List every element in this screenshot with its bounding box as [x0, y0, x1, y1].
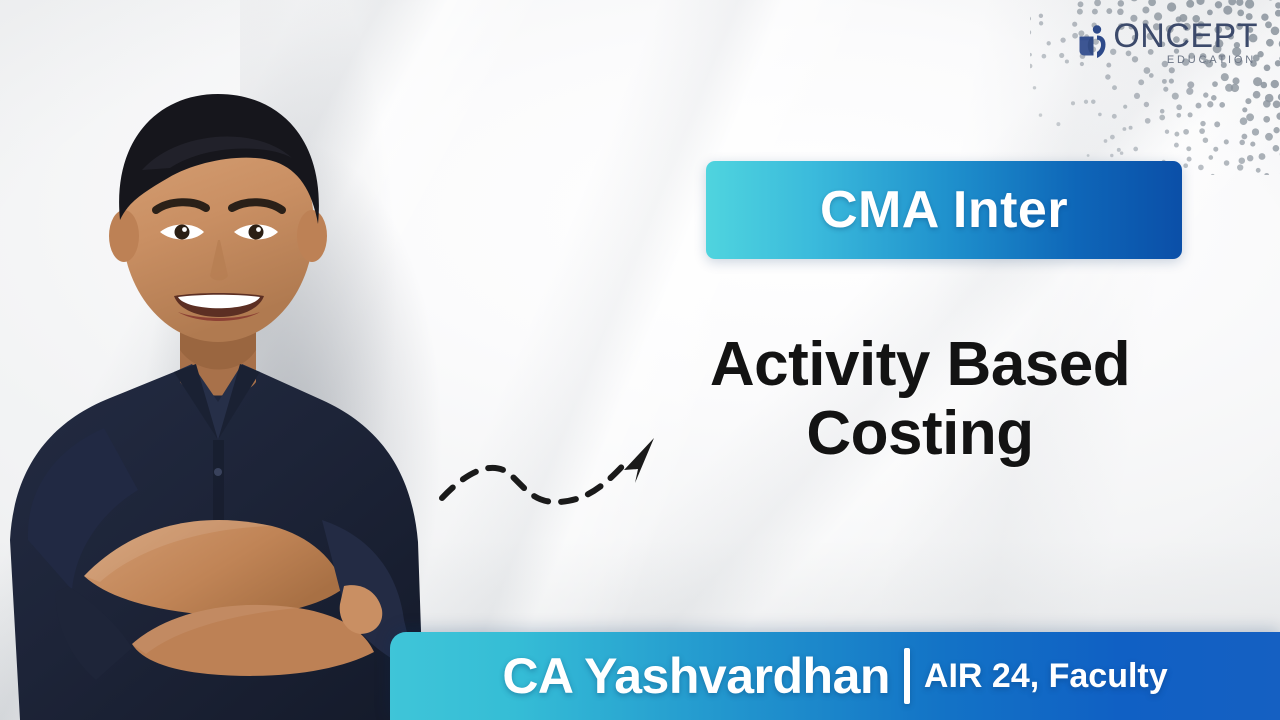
topic-title: Activity Based Costing	[640, 330, 1200, 469]
badge-label: CMA Inter	[820, 180, 1068, 240]
concept-person-icon	[1075, 24, 1109, 62]
instructor-photo	[0, 20, 462, 720]
presenter-credential: AIR 24, Faculty	[924, 657, 1168, 696]
course-level-badge[interactable]: CMA Inter	[706, 161, 1182, 259]
video-thumbnail: ONCEPT EDUCATION	[0, 0, 1280, 720]
presenter-separator	[904, 648, 910, 704]
title-line-1: Activity Based	[640, 330, 1200, 399]
presenter-name: CA Yashvardhan	[502, 647, 890, 705]
presenter-bar: CA Yashvardhan AIR 24, Faculty	[390, 632, 1280, 720]
logo-subtitle: EDUCATION	[1167, 54, 1256, 66]
dashed-curved-arrow-icon	[432, 420, 682, 520]
logo-wordmark: ONCEPT	[1113, 20, 1258, 52]
title-line-2: Costing	[640, 399, 1200, 468]
brand-logo: ONCEPT EDUCATION	[1075, 20, 1258, 66]
